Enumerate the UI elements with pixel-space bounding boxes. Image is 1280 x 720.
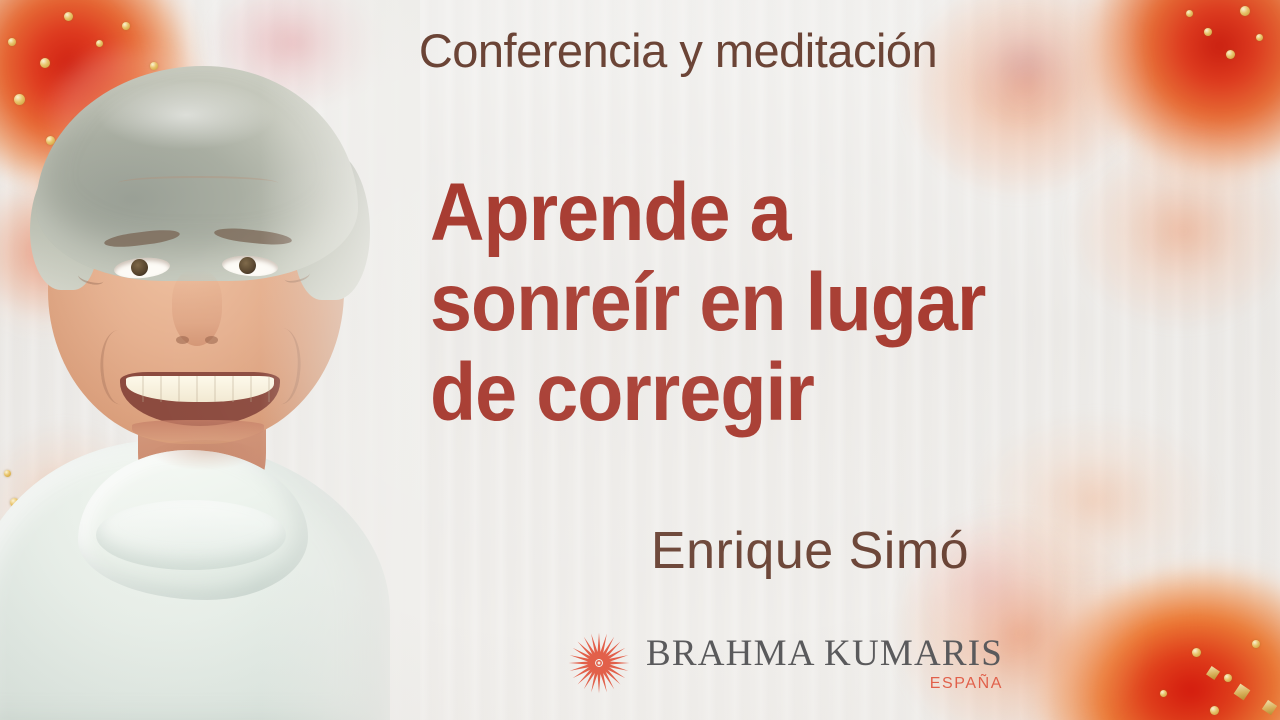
presenter-name: Enrique Simó — [430, 521, 1190, 581]
gold-speckle — [1210, 706, 1219, 715]
title-line-3: de corregir — [430, 348, 1129, 438]
gold-speckle — [1204, 28, 1212, 36]
event-type-subtitle: Conferencia y meditación — [318, 26, 1038, 77]
right-iris — [239, 257, 256, 274]
title-line-1: Aprende a — [430, 168, 1129, 258]
logo-country-label: ESPAÑA — [930, 676, 1003, 692]
brahma-kumaris-logo: BRAHMA KUMARIS ESPAÑA — [566, 630, 1003, 696]
gold-speckle — [1192, 648, 1201, 657]
nose — [172, 270, 222, 346]
gold-speckle — [1252, 640, 1260, 648]
presentation-slide: Conferencia y meditación Aprende a sonre… — [0, 0, 1280, 720]
logo-brand-name: BRAHMA KUMARIS — [646, 635, 1003, 672]
collar-fold — [96, 500, 286, 570]
gold-speckle — [1240, 6, 1250, 16]
title-line-2: sonreír en lugar — [430, 258, 1129, 348]
left-iris — [131, 259, 148, 276]
gold-speckle — [1256, 34, 1263, 41]
logo-wordmark: BRAHMA KUMARIS ESPAÑA — [646, 635, 1003, 692]
forehead-line — [118, 176, 278, 190]
speaker-portrait — [0, 0, 420, 720]
gold-speckle — [1226, 50, 1235, 59]
chin-shadow — [150, 440, 260, 470]
gold-speckle — [1186, 10, 1193, 17]
gold-speckle — [1224, 674, 1232, 682]
portrait-image — [0, 0, 420, 720]
sunburst-icon — [566, 630, 632, 696]
teeth — [126, 376, 274, 402]
page-title: Aprende a sonreír en lugar de corregir — [430, 168, 1129, 439]
left-nostril — [176, 336, 189, 344]
hair-highlight — [96, 80, 276, 150]
gold-speckle — [1160, 690, 1167, 697]
right-nostril — [205, 336, 218, 344]
